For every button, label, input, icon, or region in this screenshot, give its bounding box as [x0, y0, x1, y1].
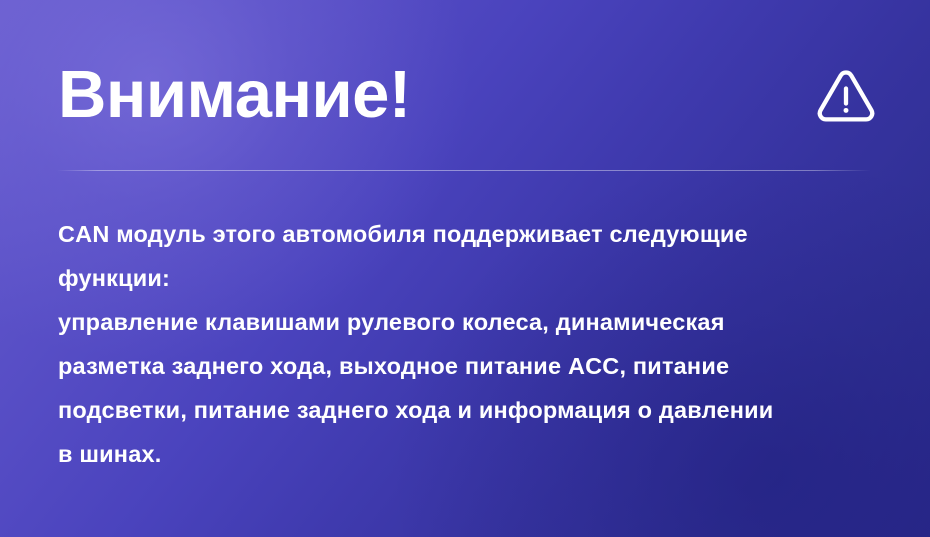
- body-line: функции:: [58, 256, 884, 300]
- warning-notice-banner: Внимание! CAN модуль этого автомобиля по…: [0, 0, 930, 537]
- body-line: разметка заднего хода, выходное питание …: [58, 344, 884, 388]
- warning-triangle-icon: [814, 63, 878, 127]
- page-title: Внимание!: [58, 60, 411, 130]
- body-line: подсветки, питание заднего хода и информ…: [58, 388, 884, 432]
- body-line: CAN модуль этого автомобиля поддерживает…: [58, 212, 884, 256]
- banner-header: Внимание!: [58, 52, 878, 138]
- body-line: управление клавишами рулевого колеса, ди…: [58, 300, 884, 344]
- header-divider: [57, 170, 871, 171]
- body-line: в шинах.: [58, 432, 884, 476]
- banner-content: Внимание! CAN модуль этого автомобиля по…: [0, 0, 930, 537]
- banner-body-text: CAN модуль этого автомобиля поддерживает…: [58, 212, 884, 476]
